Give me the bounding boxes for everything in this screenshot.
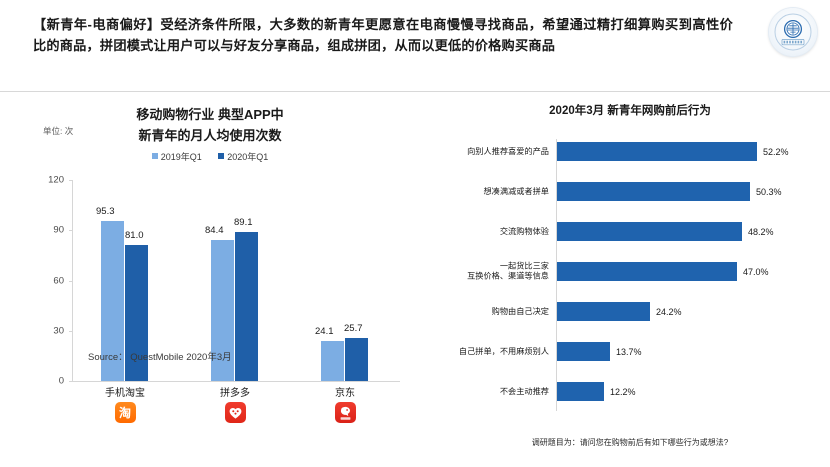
hbar-row-no-recommend: 不会主动推荐 12.2% <box>430 382 830 401</box>
bar-jingdong-2020 <box>345 338 368 381</box>
hbar-value-groupbuy: 50.3% <box>750 187 782 197</box>
right-chart-plot-area: 向别人推荐喜爱的产品 52.2% 想凑满减或者拼单 50.3% 交流购物体验 4… <box>430 134 830 424</box>
hbar-row-self-decide: 购物由自己决定 24.2% <box>430 302 830 321</box>
legend-label-2019: 2019年Q1 <box>161 152 202 162</box>
hbar-row-self-groupbuy: 自己拼单，不用麻烦别人 13.7% <box>430 342 830 361</box>
hbar-row-compare-prices: 一起货比三家 互换价格、渠道等信息 47.0% <box>430 262 830 281</box>
hbar-value-no-recommend: 12.2% <box>604 387 636 397</box>
hbar-label-self-groupbuy: 自己拼单，不用麻烦别人 <box>399 346 549 357</box>
pinduoduo-app-icon <box>175 402 295 423</box>
jingdong-dog-glyph <box>335 402 356 423</box>
hbar-value-self-decide: 24.2% <box>650 307 682 317</box>
survey-note: 调研题目为：请问您在购物前后有如下哪些行为或想法? <box>430 437 830 448</box>
hbar-label-self-decide: 购物由自己决定 <box>399 306 549 317</box>
taobao-icon-glyph: 淘 <box>115 402 136 423</box>
left-chart-title: 移动购物行业 典型APP中 新青年的月人均使用次数 <box>60 104 360 146</box>
value-label-pinduoduo-2019: 84.4 <box>205 225 224 236</box>
hbar-row-groupbuy: 想凑满减或者拼单 50.3% <box>430 182 830 201</box>
left-bar-chart: 单位: 次 移动购物行业 典型APP中 新青年的月人均使用次数 2019年Q1 … <box>0 92 430 467</box>
hbar-value-recommend: 52.2% <box>757 147 789 157</box>
legend-item-2020: 2020年Q1 <box>218 152 268 162</box>
category-label-taobao: 手机淘宝 <box>65 384 185 399</box>
category-label-jingdong: 京东 <box>285 384 405 399</box>
bar-jingdong-2019 <box>321 341 344 381</box>
university-seal-logo <box>769 8 817 56</box>
hbar-label-compare-prices: 一起货比三家 互换价格、渠道等信息 <box>399 261 549 282</box>
hbar-groupbuy <box>557 182 750 201</box>
hbar-self-groupbuy <box>557 342 610 361</box>
right-bar-chart: 2020年3月 新青年网购前后行为 向别人推荐喜爱的产品 52.2% 想凑满减或… <box>430 92 830 467</box>
hbar-self-decide <box>557 302 650 321</box>
hbar-label-compare-prices-line2: 互换价格、渠道等信息 <box>399 272 549 283</box>
slide-header: 【新青年-电商偏好】受经济条件所限，大多数的新青年更愿意在电商慢慢寻找商品，希望… <box>0 0 830 92</box>
hbar-value-compare-prices: 47.0% <box>737 267 769 277</box>
pinduoduo-heart-glyph <box>225 402 246 423</box>
left-chart-title-line2: 新青年的月人均使用次数 <box>60 125 360 146</box>
left-chart-legend: 2019年Q1 2020年Q1 <box>60 150 360 163</box>
hbar-compare-prices <box>557 262 737 281</box>
value-label-pinduoduo-2020: 89.1 <box>234 217 253 228</box>
hbar-value-self-groupbuy: 13.7% <box>610 347 642 357</box>
right-chart-title: 2020年3月 新青年网购前后行为 <box>430 102 830 118</box>
slide-canvas: 【新青年-电商偏好】受经济条件所限，大多数的新青年更愿意在电商慢慢寻找商品，希望… <box>0 0 830 467</box>
left-chart-title-line1: 移动购物行业 典型APP中 <box>60 104 360 125</box>
left-chart-source: Source： QuestMobile 2020年3月 <box>88 349 232 363</box>
value-label-taobao-2019: 95.3 <box>96 206 115 217</box>
value-label-jingdong-2020: 25.7 <box>344 323 363 334</box>
legend-label-2020: 2020年Q1 <box>227 152 268 162</box>
jingdong-app-icon <box>285 402 405 423</box>
hbar-label-groupbuy: 想凑满减或者拼单 <box>399 186 549 197</box>
hbar-label-no-recommend: 不会主动推荐 <box>399 386 549 397</box>
page-title: 【新青年-电商偏好】受经济条件所限，大多数的新青年更愿意在电商慢慢寻找商品，希望… <box>33 14 733 56</box>
hbar-label-compare-prices-line1: 一起货比三家 <box>399 261 549 272</box>
category-label-pinduoduo: 拼多多 <box>175 384 295 399</box>
hbar-label-recommend: 向别人推荐喜爱的产品 <box>399 146 549 157</box>
legend-swatch-2020 <box>218 153 224 159</box>
hbar-value-share-experience: 48.2% <box>742 227 774 237</box>
value-label-jingdong-2019: 24.1 <box>315 326 334 337</box>
bar-group-jingdong: 24.1 25.7 <box>315 180 375 381</box>
hbar-label-share-experience: 交流购物体验 <box>399 226 549 237</box>
legend-swatch-2019 <box>152 153 158 159</box>
hbar-no-recommend <box>557 382 604 401</box>
value-label-taobao-2020: 81.0 <box>125 230 144 241</box>
legend-item-2019: 2019年Q1 <box>152 152 202 162</box>
bar-pinduoduo-2020 <box>235 232 258 381</box>
hbar-row-recommend: 向别人推荐喜爱的产品 52.2% <box>430 142 830 161</box>
hbar-recommend <box>557 142 757 161</box>
hbar-row-share-experience: 交流购物体验 48.2% <box>430 222 830 241</box>
taobao-app-icon: 淘 <box>65 402 185 423</box>
hbar-share-experience <box>557 222 742 241</box>
